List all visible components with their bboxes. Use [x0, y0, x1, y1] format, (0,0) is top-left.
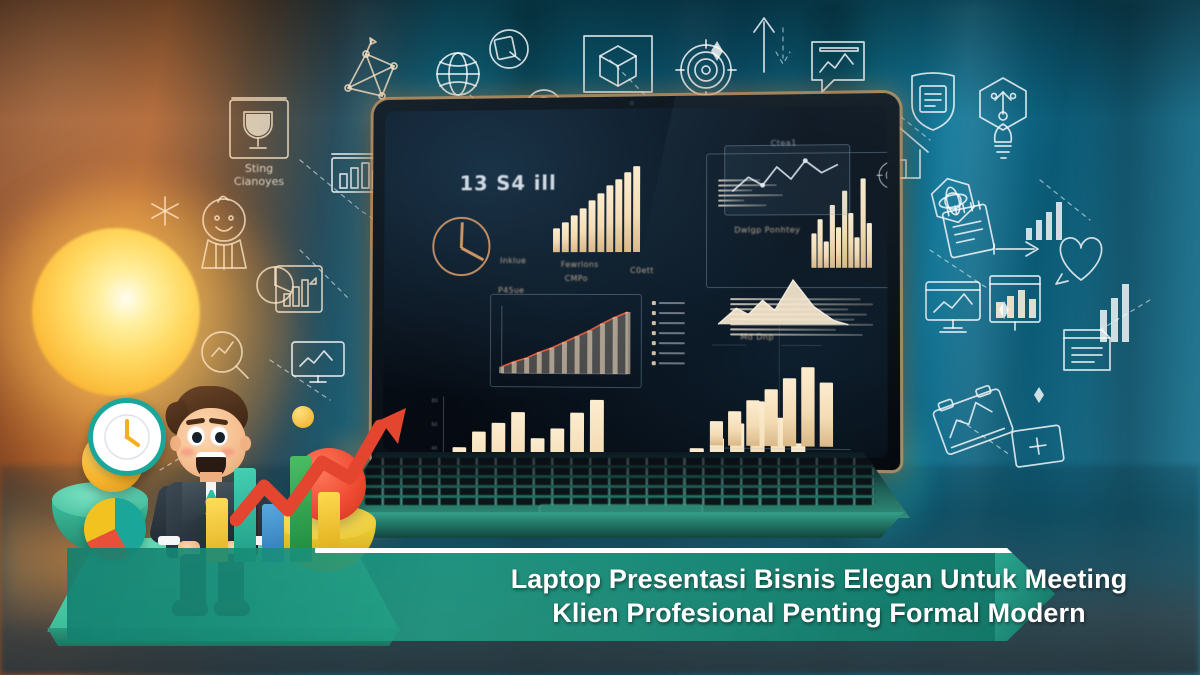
- battery-plus-icon: [1010, 420, 1068, 474]
- bar: [511, 412, 525, 458]
- caption-line-2: Klien Profesional Penting Formal Modern: [325, 596, 1200, 630]
- main-chart-y-axis: [443, 397, 444, 458]
- clock-hands-icon: [102, 412, 152, 462]
- character-ear-left: [170, 436, 181, 451]
- book-trophy-icon: [226, 92, 292, 164]
- doodle-character-icon: [196, 190, 252, 270]
- kpi-metric-value: 13 S4 ill: [460, 171, 557, 195]
- clipboard-pen-icon: [484, 24, 534, 74]
- sparkle-icon: [148, 194, 182, 228]
- clock-icon: [88, 398, 166, 476]
- speech-bubble-icon: [806, 34, 872, 100]
- camera-chart-icon: [932, 382, 1018, 460]
- bar: [562, 222, 569, 252]
- bar: [633, 166, 640, 252]
- diamond-icon: [706, 40, 728, 62]
- pie-chart-doodle-icon: [248, 258, 302, 312]
- ascending-bar-chart: [553, 164, 640, 252]
- main-bar-chart-left: [452, 397, 604, 458]
- cube-frame-icon: [580, 32, 656, 96]
- diamond-tiny-icon: [1030, 386, 1048, 404]
- arrow-down-icon: [768, 24, 798, 70]
- laptop-lid: 13 S4 ill Inklue P45ue Fewrlons CMPo C0e…: [371, 93, 900, 470]
- bar: [580, 208, 587, 252]
- trophy-doodle-label: Sting Cianoyes: [205, 162, 313, 188]
- bar: [615, 179, 622, 252]
- usb-lightbulb-icon: [968, 74, 1038, 162]
- bar: [570, 413, 584, 458]
- bar: [597, 193, 604, 252]
- character-cuff-left: [158, 536, 180, 545]
- bar: [624, 172, 631, 252]
- side-bars-icon: [1098, 276, 1138, 346]
- bar: [588, 200, 595, 252]
- globe-icon: [430, 46, 486, 102]
- banner-top-rule: [315, 548, 1039, 553]
- bar: [606, 185, 613, 252]
- atom-hex-icon: [926, 174, 980, 228]
- ascending-bars-sublabel: CMPo: [565, 274, 588, 283]
- donut-chart: [432, 217, 490, 276]
- donut-label-left: Inklue: [500, 256, 526, 265]
- image-canvas: Sting Cianoyes: [0, 0, 1200, 675]
- arrow-right-icon: [992, 238, 1044, 260]
- monitor-chart-icon: [922, 276, 986, 338]
- red-growth-arrow: [230, 400, 410, 550]
- bar: [571, 215, 578, 252]
- bar: [553, 228, 560, 252]
- diamond-small-icon: [994, 300, 1014, 320]
- ascending-bars-label: Fewrlons: [561, 260, 599, 269]
- webcam: [629, 100, 634, 105]
- caption-text: Laptop Presentasi Bisnis Elegan Untuk Me…: [67, 562, 1200, 630]
- caption-line-1: Laptop Presentasi Bisnis Elegan Untuk Me…: [511, 564, 1128, 594]
